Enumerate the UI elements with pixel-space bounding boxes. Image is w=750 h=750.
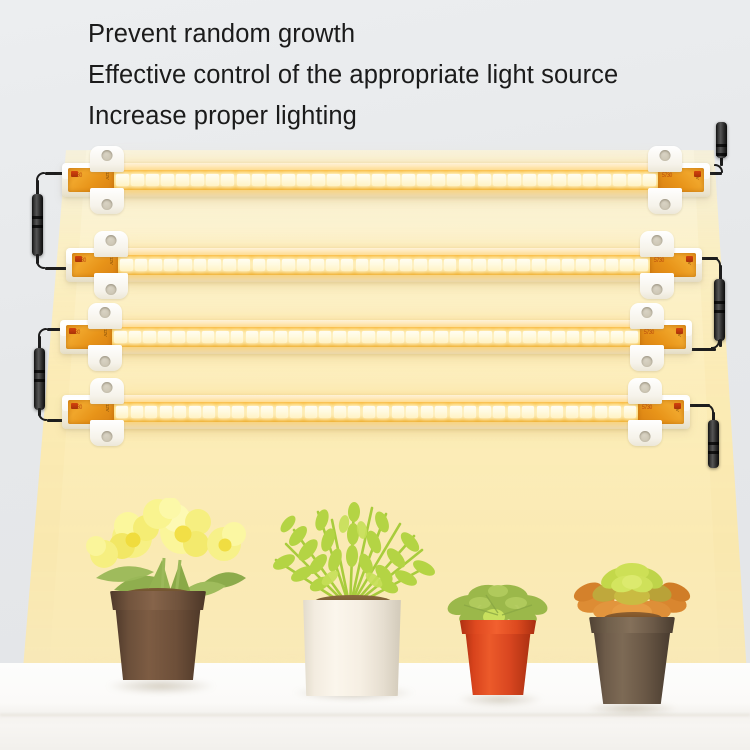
- led-chip: [143, 331, 156, 343]
- mounting-tab-bot-left[interactable]: [90, 188, 124, 214]
- led-chip: [421, 406, 433, 418]
- led-emitter-strip: [112, 327, 640, 347]
- headline-line-2: Effective control of the appropriate lig…: [88, 55, 738, 96]
- led-chip: [562, 259, 575, 271]
- led-bar-3[interactable]: 573012V573012V: [60, 320, 692, 354]
- led-chip: [537, 406, 549, 418]
- solder-pad: [686, 256, 693, 262]
- led-chip: [297, 174, 310, 186]
- led-chip: [146, 174, 159, 186]
- led-bar-4[interactable]: 573012V573012V: [62, 395, 690, 429]
- solder-pad: [674, 403, 681, 409]
- led-chip: [372, 174, 385, 186]
- solder-pad: [71, 171, 78, 177]
- mounting-tab-top-left[interactable]: [90, 378, 124, 404]
- led-chip: [131, 406, 143, 418]
- led-chip: [432, 174, 445, 186]
- solder-pad: [75, 256, 82, 262]
- end-cap-marking: 5730: [662, 172, 672, 179]
- led-chip: [312, 174, 325, 186]
- led-chip: [356, 259, 369, 271]
- led-chip: [493, 406, 505, 418]
- pot-rim: [459, 620, 537, 634]
- plant-yellow-flowers: [112, 500, 262, 700]
- solder-pad: [676, 328, 683, 334]
- mounting-tab-bot-right[interactable]: [648, 188, 682, 214]
- led-chip: [164, 259, 177, 271]
- mounting-tab-bot-right[interactable]: [630, 345, 664, 371]
- led-chip: [289, 331, 302, 343]
- led-chip: [508, 406, 520, 418]
- plant-small-red-pot: [462, 565, 572, 705]
- mounting-tab-top-right[interactable]: [630, 303, 664, 329]
- led-chip: [357, 174, 370, 186]
- led-chip: [246, 331, 259, 343]
- led-chip: [149, 259, 162, 271]
- pot-rim: [109, 591, 207, 610]
- led-chip: [114, 331, 127, 343]
- barrel-connector-left-lower: [34, 348, 45, 410]
- led-chip: [377, 406, 389, 418]
- led-chip: [387, 174, 400, 186]
- led-chip: [547, 259, 560, 271]
- led-chip: [553, 174, 566, 186]
- plant-succulent-square-pot: [592, 552, 702, 712]
- led-chip: [479, 406, 491, 418]
- solder-pad: [694, 171, 701, 177]
- led-chip: [459, 259, 472, 271]
- led-chip: [421, 331, 434, 343]
- headline-line-1: Prevent random growth: [88, 14, 738, 55]
- product-image-stage: Prevent random growth Effective control …: [0, 0, 750, 750]
- led-chip: [625, 331, 638, 343]
- led-chip: [598, 174, 611, 186]
- led-chip: [174, 406, 186, 418]
- mounting-tab-top-left[interactable]: [90, 146, 124, 172]
- mounting-tab-top-left[interactable]: [88, 303, 122, 329]
- led-chip: [620, 259, 633, 271]
- led-chip: [567, 331, 580, 343]
- led-chip: [566, 406, 578, 418]
- led-chip: [402, 174, 415, 186]
- led-chip: [311, 259, 324, 271]
- led-chip: [517, 259, 530, 271]
- led-chip: [377, 331, 390, 343]
- led-chip: [208, 259, 221, 271]
- led-chip: [522, 406, 534, 418]
- led-chip: [429, 259, 442, 271]
- led-chip: [400, 259, 413, 271]
- led-chip: [319, 406, 331, 418]
- led-chip: [116, 406, 128, 418]
- led-chip: [392, 406, 404, 418]
- barrel-connector-right-middle: [714, 279, 725, 341]
- led-chip: [131, 174, 144, 186]
- led-chip: [267, 259, 280, 271]
- end-cap-voltage-marking: 12V: [105, 172, 110, 179]
- led-chip: [406, 331, 419, 343]
- led-chip: [276, 406, 288, 418]
- led-chip: [551, 406, 563, 418]
- led-chip: [135, 259, 148, 271]
- end-cap-voltage-marking: 12V: [105, 404, 110, 411]
- plant-fern-white-pot: [300, 495, 460, 705]
- led-chip: [591, 259, 604, 271]
- led-chip: [609, 406, 621, 418]
- led-chip: [158, 331, 171, 343]
- mounting-tab-bot-left[interactable]: [94, 273, 128, 299]
- led-bar-2[interactable]: 573012V573012V: [66, 248, 702, 282]
- end-cap-voltage-marking: 12V: [109, 257, 114, 264]
- led-chip: [176, 174, 189, 186]
- mounting-tab-top-right[interactable]: [648, 146, 682, 172]
- led-chip: [203, 406, 215, 418]
- led-chip: [223, 259, 236, 271]
- led-chip: [493, 174, 506, 186]
- led-chip: [624, 406, 636, 418]
- led-chip: [282, 259, 295, 271]
- led-chip: [333, 331, 346, 343]
- led-chip: [595, 406, 607, 418]
- led-chip: [327, 174, 340, 186]
- led-chip: [261, 406, 273, 418]
- led-chip: [596, 331, 609, 343]
- led-chip: [552, 331, 565, 343]
- led-chip: [435, 331, 448, 343]
- led-chip: [576, 259, 589, 271]
- led-chip: [406, 406, 418, 418]
- led-chip: [206, 174, 219, 186]
- mounting-tab-bot-right[interactable]: [640, 273, 674, 299]
- led-chip: [191, 174, 204, 186]
- led-chip: [161, 174, 174, 186]
- led-chip: [290, 406, 302, 418]
- solder-pad: [71, 403, 78, 409]
- barrel-connector-left-upper: [32, 194, 43, 256]
- led-chip: [465, 331, 478, 343]
- led-chip: [508, 174, 521, 186]
- led-chip: [232, 406, 244, 418]
- led-chip: [326, 259, 339, 271]
- led-chip: [267, 174, 280, 186]
- led-chip: [392, 331, 405, 343]
- led-chip: [187, 331, 200, 343]
- led-chip: [435, 406, 447, 418]
- led-chip: [628, 174, 641, 186]
- led-chip: [362, 331, 375, 343]
- led-chip: [160, 406, 172, 418]
- led-chip: [568, 174, 581, 186]
- led-chip: [334, 406, 346, 418]
- led-chip: [509, 331, 522, 343]
- led-chip: [116, 174, 129, 186]
- led-chip: [348, 406, 360, 418]
- led-chip: [582, 331, 595, 343]
- led-chip: [342, 174, 355, 186]
- led-chip: [172, 331, 185, 343]
- led-chip: [479, 331, 492, 343]
- mounting-tab-top-left[interactable]: [94, 231, 128, 257]
- mounting-tab-bot-left[interactable]: [88, 345, 122, 371]
- led-chip: [523, 174, 536, 186]
- headline-line-3: Increase proper lighting: [88, 96, 738, 137]
- led-chip: [532, 259, 545, 271]
- led-chip: [450, 406, 462, 418]
- led-chip: [462, 174, 475, 186]
- barrel-connector-right-bottom: [708, 420, 719, 468]
- led-chip: [237, 174, 250, 186]
- led-chip: [202, 331, 215, 343]
- led-chip: [260, 331, 273, 343]
- mounting-tab-bot-right[interactable]: [628, 420, 662, 446]
- led-chip: [319, 331, 332, 343]
- led-chip: [297, 259, 310, 271]
- led-emitter-strip: [118, 255, 650, 275]
- end-cap-marking: 5730: [642, 404, 652, 411]
- led-chip: [189, 406, 201, 418]
- led-emitter-strip: [114, 402, 638, 422]
- mounting-tab-top-right[interactable]: [628, 378, 662, 404]
- pot-shadow: [106, 678, 216, 694]
- led-chip: [580, 406, 592, 418]
- end-cap-marking: 5730: [644, 329, 654, 336]
- led-chip: [447, 174, 460, 186]
- headline-group: Prevent random growth Effective control …: [88, 14, 738, 137]
- led-chip: [348, 331, 361, 343]
- led-chip: [503, 259, 516, 271]
- led-chip: [643, 174, 656, 186]
- pot-cream-cylinder: [300, 600, 404, 696]
- led-chip: [231, 331, 244, 343]
- led-chip: [538, 331, 551, 343]
- solder-pad: [69, 328, 76, 334]
- led-chip: [221, 174, 234, 186]
- led-chip: [247, 406, 259, 418]
- led-chip: [370, 259, 383, 271]
- led-chip: [305, 406, 317, 418]
- led-chip: [179, 259, 192, 271]
- led-chip: [414, 259, 427, 271]
- pot-rim: [589, 617, 675, 633]
- led-chip: [218, 406, 230, 418]
- mounting-tab-top-right[interactable]: [640, 231, 674, 257]
- led-bar-1[interactable]: 573012V573012V: [62, 163, 710, 197]
- led-chip: [282, 174, 295, 186]
- led-chip: [473, 259, 486, 271]
- led-chip: [385, 259, 398, 271]
- led-chip: [238, 259, 251, 271]
- led-chip: [252, 174, 265, 186]
- led-emitter-strip: [114, 170, 658, 190]
- led-chip: [363, 406, 375, 418]
- led-chip: [129, 331, 142, 343]
- led-chip: [538, 174, 551, 186]
- end-cap-marking: 5730: [654, 257, 664, 264]
- led-chip: [120, 259, 133, 271]
- led-chip: [488, 259, 501, 271]
- mounting-tab-bot-left[interactable]: [90, 420, 124, 446]
- led-chip: [145, 406, 157, 418]
- led-chip: [523, 331, 536, 343]
- end-cap-voltage-marking: 12V: [103, 329, 108, 336]
- led-chip: [275, 331, 288, 343]
- led-chip: [450, 331, 463, 343]
- led-chip: [635, 259, 648, 271]
- led-chip: [341, 259, 354, 271]
- led-chip: [613, 174, 626, 186]
- led-chip: [606, 259, 619, 271]
- led-chip: [611, 331, 624, 343]
- led-chip: [216, 331, 229, 343]
- led-chip: [304, 331, 317, 343]
- led-chip: [478, 174, 491, 186]
- led-chip: [417, 174, 430, 186]
- led-chip: [253, 259, 266, 271]
- led-chip: [194, 259, 207, 271]
- led-chip: [444, 259, 457, 271]
- led-chip: [464, 406, 476, 418]
- led-chip: [583, 174, 596, 186]
- led-chip: [494, 331, 507, 343]
